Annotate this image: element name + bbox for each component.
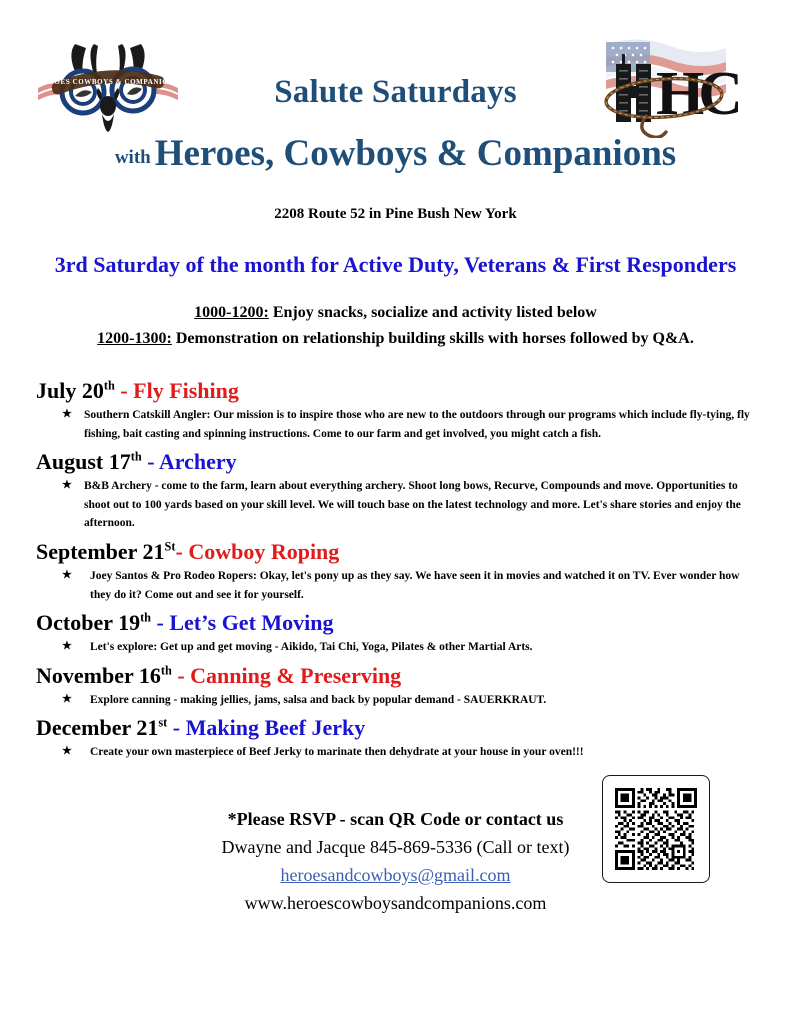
venue-address: 2208 Route 52 in Pine Bush New York <box>0 206 791 223</box>
event-activity: Let’s Get Moving <box>169 610 333 635</box>
qr-code-box[interactable] <box>602 775 710 883</box>
event-heading: October 19th - Let’s Get Moving <box>36 610 758 636</box>
email-link[interactable]: heroesandcowboys@gmail.com <box>280 862 510 890</box>
event-description-row: ★ Let's explore: Get up and get moving -… <box>36 638 758 657</box>
event-description-row: ★ Create your own masterpiece of Beef Je… <box>36 743 758 762</box>
event-ordinal: th <box>131 450 142 464</box>
event-date: December 21 <box>36 715 158 740</box>
event-date: September 21 <box>36 539 165 564</box>
event-description-row: ★ Explore canning - making jellies, jams… <box>36 691 758 710</box>
star-bullet-icon: ★ <box>62 567 72 585</box>
website-url: www.heroescowboysandcompanions.com <box>0 890 791 918</box>
event-description: Let's explore: Get up and get moving - A… <box>90 641 533 653</box>
star-bullet-icon: ★ <box>62 477 72 495</box>
rsvp-qr-code[interactable] <box>615 788 697 870</box>
event-separator: - <box>175 539 188 564</box>
event-description-row: ★ Southern Catskill Angler: Our mission … <box>36 406 758 443</box>
event-activity: Archery <box>159 449 237 474</box>
star-bullet-icon: ★ <box>62 691 72 709</box>
event-heading: December 21st - Making Beef Jerky <box>36 715 758 741</box>
event-description: B&B Archery - come to the farm, learn ab… <box>84 480 741 529</box>
schedule-text: Demonstration on relationship building s… <box>176 330 694 347</box>
event-ordinal: St <box>165 540 176 554</box>
event-heading: September 21St- Cowboy Roping <box>36 539 758 565</box>
schedule-row: 1000-1200: Enjoy snacks, socialize and a… <box>0 304 791 322</box>
event-description: Southern Catskill Angler: Our mission is… <box>84 409 750 440</box>
event-heading: August 17th - Archery <box>36 449 758 475</box>
event-date: November 16 <box>36 663 161 688</box>
event-item: December 21st - Making Beef Jerky ★ Crea… <box>36 715 758 762</box>
event-heading: November 16th - Canning & Preserving <box>36 663 758 689</box>
page-title: Salute Saturdays <box>0 74 791 111</box>
event-separator: - <box>151 610 169 635</box>
event-item: July 20th - Fly Fishing ★ Southern Catsk… <box>36 378 758 443</box>
event-description: Explore canning - making jellies, jams, … <box>90 694 546 706</box>
event-date: October 19 <box>36 610 140 635</box>
event-ordinal: th <box>104 379 115 393</box>
event-date: July 20 <box>36 378 104 403</box>
event-description-row: ★ Joey Santos & Pro Rodeo Ropers: Okay, … <box>36 567 758 604</box>
schedule-time: 1200-1300: <box>97 330 172 347</box>
event-item: November 16th - Canning & Preserving ★ E… <box>36 663 758 710</box>
event-tagline: 3rd Saturday of the month for Active Dut… <box>0 252 791 278</box>
event-item: September 21St- Cowboy Roping ★ Joey San… <box>36 539 758 604</box>
event-activity: Fly Fishing <box>133 378 239 403</box>
organization-name: Heroes, Cowboys & Companions <box>155 133 676 174</box>
with-word: with <box>115 147 155 168</box>
event-ordinal: th <box>140 611 151 625</box>
event-ordinal: th <box>161 663 172 677</box>
event-list: July 20th - Fly Fishing ★ Southern Catsk… <box>36 378 758 768</box>
star-bullet-icon: ★ <box>62 406 72 424</box>
event-separator: - <box>142 449 159 474</box>
flyer-page: HEROES COWBOYS & COMPANIONS <box>0 0 791 1023</box>
event-date: August 17 <box>36 449 131 474</box>
event-heading: July 20th - Fly Fishing <box>36 378 758 404</box>
event-separator: - <box>167 715 185 740</box>
event-item: October 19th - Let’s Get Moving ★ Let's … <box>36 610 758 657</box>
event-activity: Cowboy Roping <box>188 539 339 564</box>
organization-title: withHeroes, Cowboys & Companions <box>0 132 791 175</box>
event-description-row: ★ B&B Archery - come to the farm, learn … <box>36 477 758 533</box>
schedule-times: 1000-1200: Enjoy snacks, socialize and a… <box>0 304 791 356</box>
star-bullet-icon: ★ <box>62 743 72 761</box>
event-description: Joey Santos & Pro Rodeo Ropers: Okay, le… <box>90 570 740 601</box>
schedule-text: Enjoy snacks, socialize and activity lis… <box>273 304 597 321</box>
star-bullet-icon: ★ <box>62 638 72 656</box>
event-activity: Making Beef Jerky <box>186 715 366 740</box>
schedule-time: 1000-1200: <box>194 304 269 321</box>
event-description: Create your own masterpiece of Beef Jerk… <box>90 746 584 758</box>
event-ordinal: st <box>158 716 167 730</box>
event-separator: - <box>115 378 133 403</box>
schedule-row: 1200-1300: Demonstration on relationship… <box>0 330 791 348</box>
event-item: August 17th - Archery ★ B&B Archery - co… <box>36 449 758 533</box>
event-activity: Canning & Preserving <box>190 663 401 688</box>
event-separator: - <box>172 663 190 688</box>
